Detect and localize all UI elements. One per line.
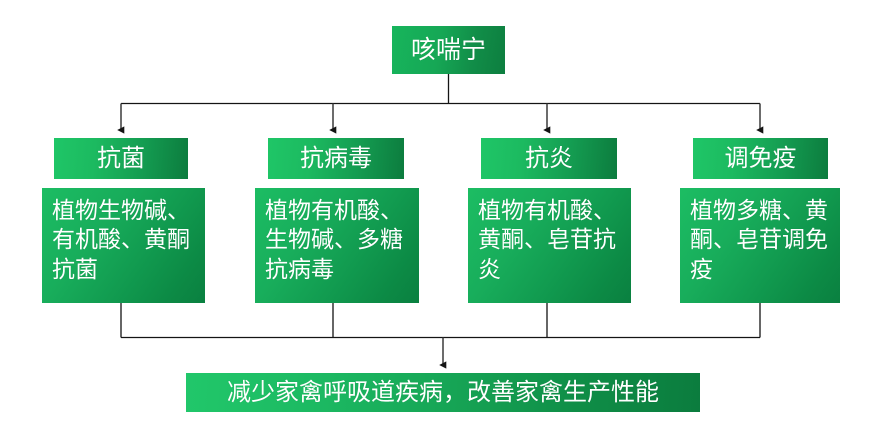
category-header-label: 调免疫 [725,147,797,171]
category-header-immunomodulation[interactable]: 调免疫 [693,138,828,179]
category-body-immunomodulation[interactable]: 植物多糖、黄酮、皂苷调免疫 [680,188,840,303]
outcome-node-label: 减少家禽呼吸道疾病，改善家禽生产性能 [227,381,659,405]
category-header-label: 抗病毒 [300,147,372,171]
category-body-text: 植物多糖、黄酮、皂苷调免疫 [690,196,834,284]
category-body-text: 植物生物碱、有机酸、黄酮抗菌 [52,196,199,284]
outcome-node[interactable]: 减少家禽呼吸道疾病，改善家禽生产性能 [186,373,700,412]
category-body-text: 植物有机酸、生物碱、多糖抗病毒 [265,196,413,284]
category-body-antibacterial[interactable]: 植物生物碱、有机酸、黄酮抗菌 [42,188,205,303]
category-header-antiviral[interactable]: 抗病毒 [268,138,404,179]
category-body-text: 植物有机酸、黄酮、皂苷抗炎 [478,196,625,284]
category-body-antiinflammatory[interactable]: 植物有机酸、黄酮、皂苷抗炎 [468,188,631,303]
category-header-antiinflammatory[interactable]: 抗炎 [481,138,617,179]
category-header-label: 抗炎 [525,147,573,171]
category-header-antibacterial[interactable]: 抗菌 [54,138,188,179]
category-header-label: 抗菌 [97,147,145,171]
flowchart-canvas: 咳喘宁 抗菌 抗病毒 抗炎 调免疫 植物生物碱、有机酸、黄酮抗菌 植物有机酸、生… [0,0,883,437]
root-node-label: 咳喘宁 [411,38,486,63]
root-node[interactable]: 咳喘宁 [392,26,505,74]
category-body-antiviral[interactable]: 植物有机酸、生物碱、多糖抗病毒 [255,188,419,303]
